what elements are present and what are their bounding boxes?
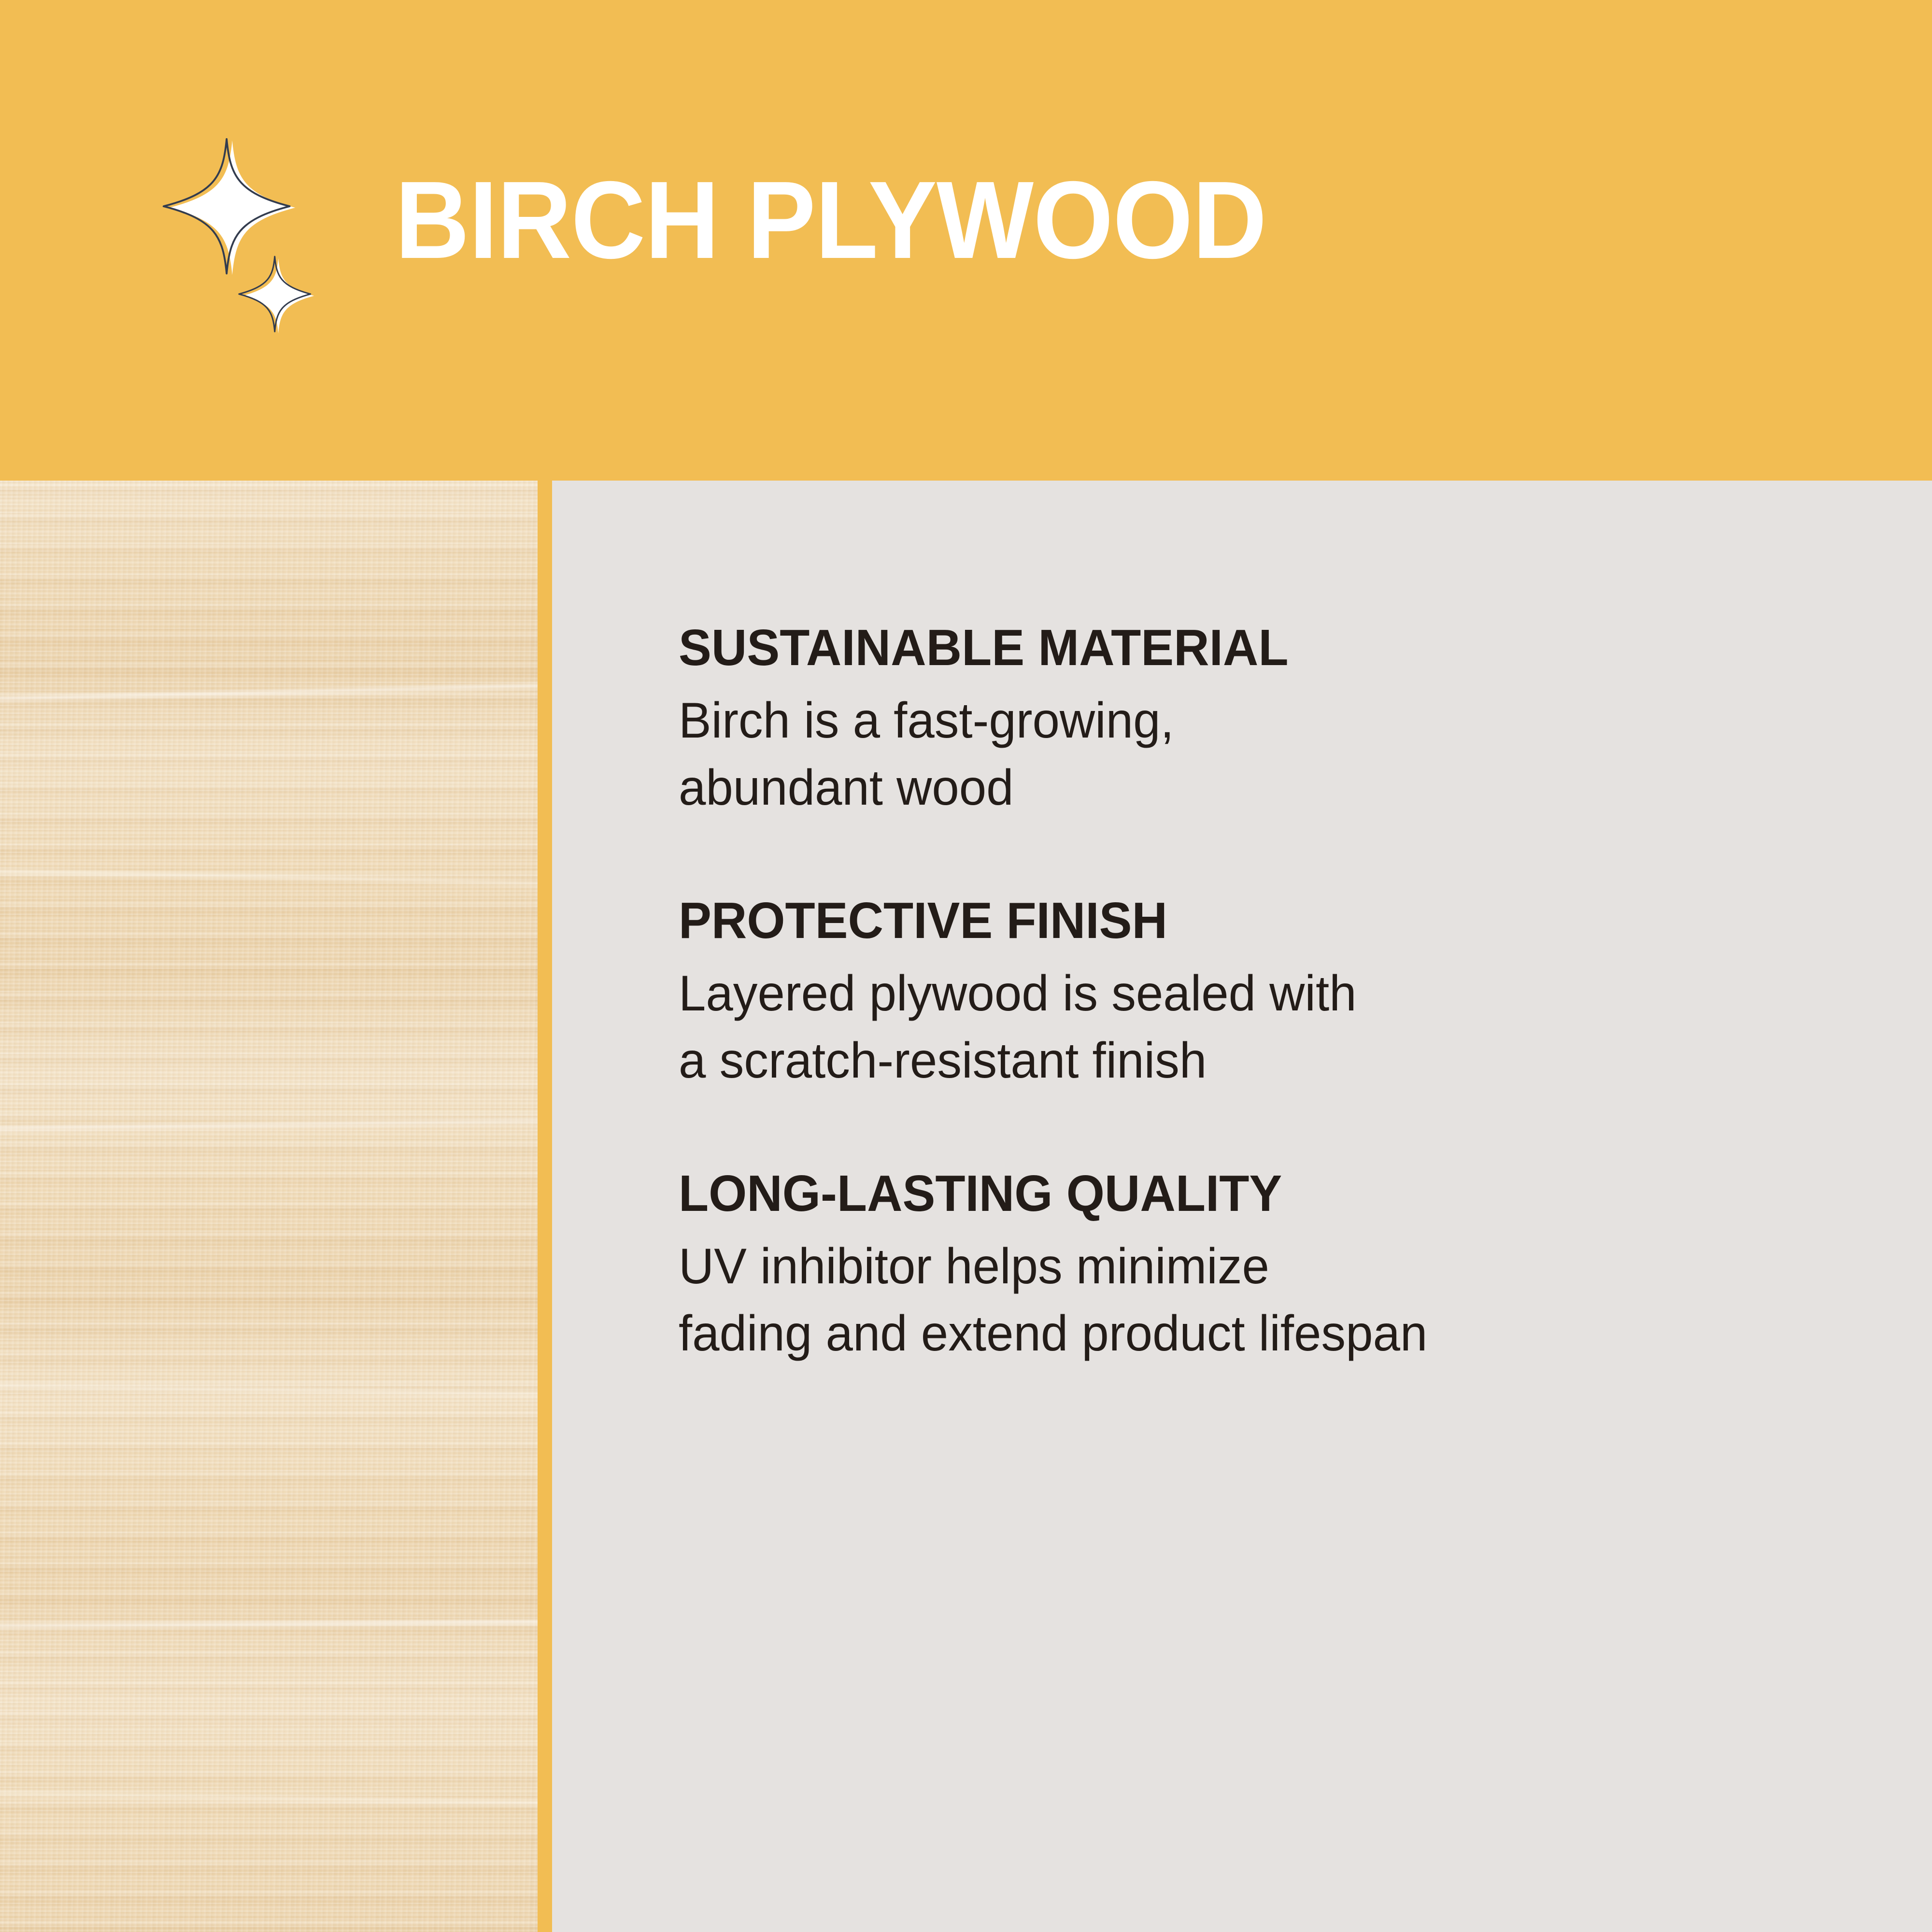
feature-body-line: Layered plywood is sealed with [679, 960, 1875, 1027]
feature-item-long-lasting-quality: LONG-LASTING QUALITY UV inhibitor helps … [679, 1166, 1905, 1367]
vertical-divider [538, 481, 552, 1932]
feature-body: UV inhibitor helps minimize fading and e… [679, 1233, 1875, 1367]
wood-streak-layer [0, 481, 538, 1932]
feature-body: Layered plywood is sealed with a scratch… [679, 960, 1875, 1094]
feature-heading: PROTECTIVE FINISH [679, 894, 1856, 948]
feature-item-protective-finish: PROTECTIVE FINISH Layered plywood is sea… [679, 894, 1905, 1094]
feature-item-sustainable-material: SUSTAINABLE MATERIAL Birch is a fast-gro… [679, 621, 1905, 821]
feature-heading: SUSTAINABLE MATERIAL [679, 621, 1856, 675]
product-feature-card: BIRCH PLYWOOD SUSTAINABLE MATERIAL Birch… [0, 0, 1932, 1932]
feature-body-line: Birch is a fast-growing, [679, 687, 1875, 754]
features-panel: SUSTAINABLE MATERIAL Birch is a fast-gro… [552, 481, 1932, 1932]
wood-texture-image [0, 481, 538, 1932]
feature-body-line: abundant wood [679, 754, 1875, 821]
feature-body-line: UV inhibitor helps minimize [679, 1233, 1875, 1300]
feature-body-line: fading and extend product lifespan [679, 1300, 1875, 1367]
page-title: BIRCH PLYWOOD [395, 168, 1266, 273]
feature-list: SUSTAINABLE MATERIAL Birch is a fast-gro… [679, 621, 1905, 1367]
feature-body: Birch is a fast-growing, abundant wood [679, 687, 1875, 821]
sparkle-icon [232, 251, 321, 341]
feature-heading: LONG-LASTING QUALITY [679, 1166, 1856, 1221]
feature-body-line: a scratch-resistant finish [679, 1027, 1875, 1094]
